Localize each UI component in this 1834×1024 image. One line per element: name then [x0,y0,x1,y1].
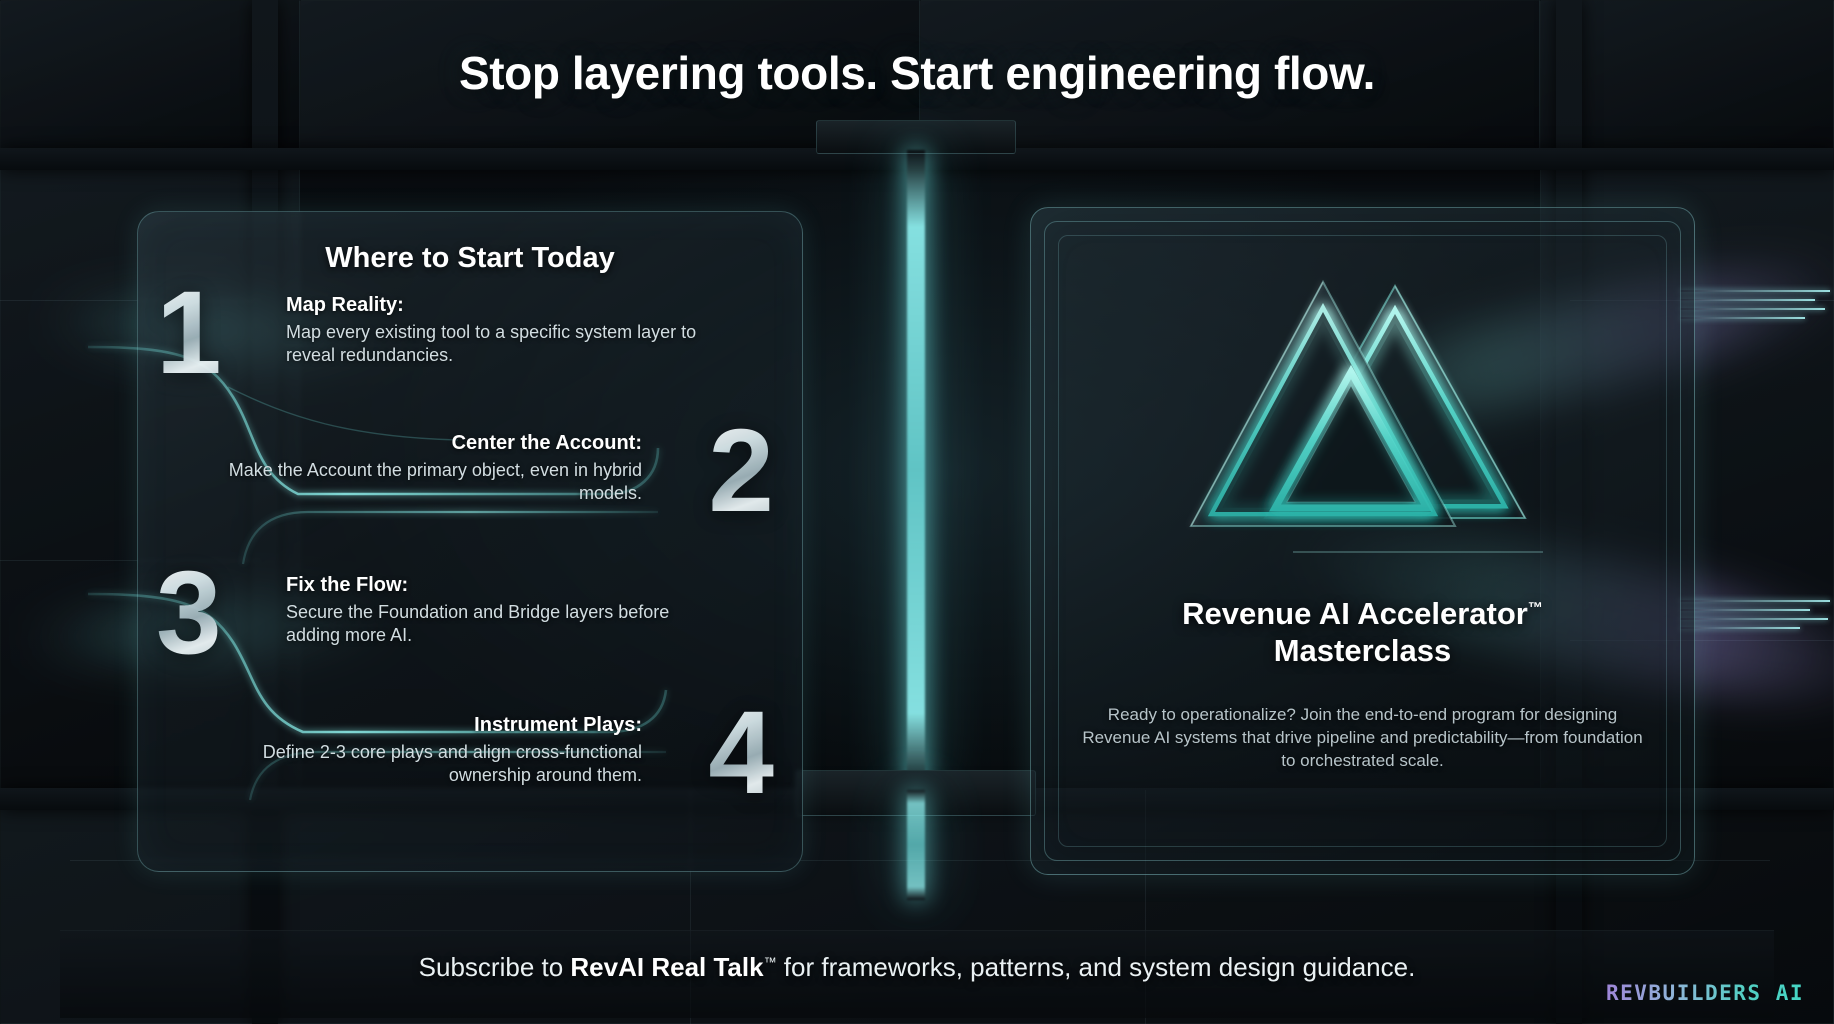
step-text: Instrument Plays: Define 2-3 core plays … [212,714,642,787]
masterclass-title: Revenue AI Accelerator™ Masterclass [1071,596,1654,669]
footer-prefix: Subscribe to [419,952,571,982]
step-number: 3 [156,554,222,672]
step-number: 2 [708,412,774,530]
masterclass-title-line2: Masterclass [1274,633,1452,668]
footer-cta: Subscribe to RevAI Real Talk™ for framew… [0,952,1834,983]
step-title: Fix the Flow: [286,574,716,597]
revbuilders-triangle-logo [1163,256,1563,586]
step-title: Map Reality: [286,294,716,317]
infographic-slide: Stop layering tools. Start engineering f… [0,0,1834,1024]
panel-heading: Where to Start Today [138,242,802,275]
masterclass-description: Ready to operationalize? Join the end-to… [1079,703,1646,772]
step-body: Map every existing tool to a specific sy… [286,321,716,367]
central-light-column [907,150,925,790]
step-body: Make the Account the primary object, eve… [212,459,642,505]
footer-suffix: for frameworks, patterns, and system des… [777,952,1416,982]
step-number: 1 [156,274,222,392]
step-text: Map Reality: Map every existing tool to … [286,294,716,367]
footer-trademark: ™ [764,954,777,969]
fiber-bundle [1680,290,1834,330]
step-title: Instrument Plays: [212,714,642,737]
step-body: Secure the Foundation and Bridge layers … [286,601,716,647]
step-item: 1 Map Reality: Map every existing tool t… [138,290,802,428]
step-text: Fix the Flow: Secure the Foundation and … [286,574,716,647]
fiber-bundle [1680,600,1834,640]
steps-list: 1 Map Reality: Map every existing tool t… [138,290,802,850]
masterclass-title-line1: Revenue AI Accelerator [1182,596,1528,631]
step-item: 2 Center the Account: Make the Account t… [138,428,802,570]
page-title: Stop layering tools. Start engineering f… [0,46,1834,100]
step-item: 3 Fix the Flow: Secure the Foundation an… [138,570,802,710]
column-cap-top [816,120,1016,154]
step-text: Center the Account: Make the Account the… [212,432,642,505]
revbuilders-ai-wordmark: REVBUILDERS AI [1606,981,1804,1005]
step-item: 4 Instrument Plays: Define 2-3 core play… [138,710,802,850]
step-body: Define 2-3 core plays and align cross-fu… [212,741,642,787]
trademark-symbol: ™ [1528,600,1543,617]
step-title: Center the Account: [212,432,642,455]
central-light-column-lower [907,790,925,900]
footer-brand: RevAI Real Talk [570,952,763,982]
step-number: 4 [708,694,774,812]
where-to-start-panel: Where to Start Today [137,211,803,872]
masterclass-panel: Revenue AI Accelerator™ Masterclass Read… [1030,207,1695,875]
